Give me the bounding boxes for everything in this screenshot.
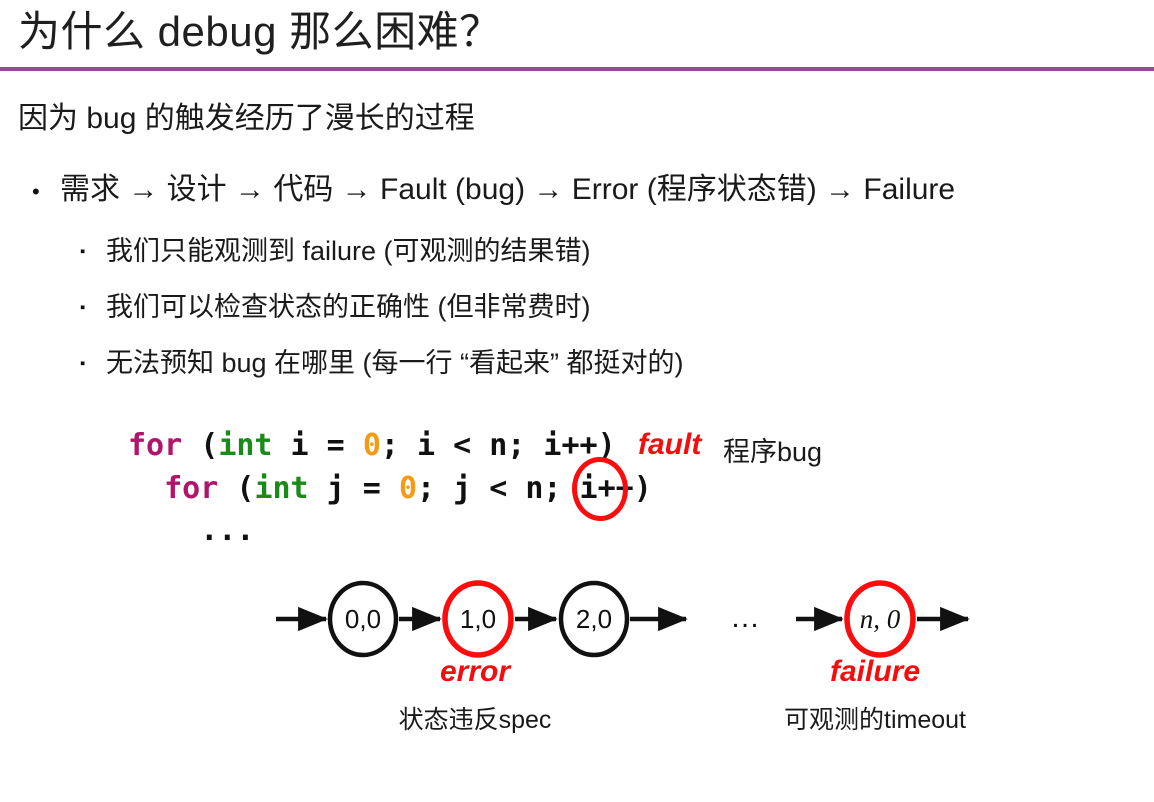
page-title: 为什么 debug 那么困难？ (18, 6, 502, 57)
code-type-int: int (218, 428, 272, 463)
code-punct: ( (218, 471, 254, 506)
code-line-1: for (int i = 0; i < n; i++) (128, 428, 616, 463)
code-text: j = (309, 471, 399, 506)
fault-annotation: fault (638, 428, 701, 462)
bullet-item-label: 需求 → 设计 → 代码 → Fault (bug) → Error (程序状态… (60, 172, 955, 208)
state-node-1-0-label: 1,0 (460, 604, 496, 634)
code-keyword-for: for (128, 428, 182, 463)
bullet-square-icon: ▪ (80, 243, 106, 261)
fault-annotation-note: 程序bug (723, 430, 822, 469)
code-type-int: int (254, 471, 308, 506)
failure-annotation: failure (790, 655, 960, 689)
code-text: i = (273, 428, 363, 463)
bullet-item-label: 我们可以检查状态的正确性 (但非常费时) (106, 291, 590, 323)
error-annotation-sub: 状态违反spec (370, 700, 580, 736)
lead-paragraph: 因为 bug 的触发经历了漫长的过程 (18, 100, 475, 138)
code-number-zero: 0 (363, 428, 381, 463)
code-keyword-for: for (164, 471, 218, 506)
code-punct: ( (182, 428, 218, 463)
bullet-dot-icon: • (32, 179, 60, 205)
state-node-0-0-label: 0,0 (345, 604, 381, 634)
bullet-item-observe-failure: ▪ 我们只能观测到 failure (可观测的结果错) (80, 235, 591, 267)
code-line-3-ellipsis: ... (128, 513, 254, 548)
bullet-square-icon: ▪ (80, 299, 106, 317)
bullet-item-unpredictable-bug: ▪ 无法预知 bug 在哪里 (每一行 “看起来” 都挺对的) (80, 347, 684, 379)
bullet-item-label: 我们只能观测到 failure (可观测的结果错) (106, 235, 591, 267)
code-indent (128, 471, 164, 506)
state-node-n-0-label: n, 0 (860, 604, 901, 634)
bullet-item-check-state: ▪ 我们可以检查状态的正确性 (但非常费时) (80, 291, 590, 323)
code-text: ; i < n; i++) (381, 428, 616, 463)
bullet-item-pipeline: • 需求 → 设计 → 代码 → Fault (bug) → Error (程序… (32, 172, 955, 208)
failure-annotation-sub: 可观测的timeout (755, 700, 995, 736)
error-annotation: error (400, 655, 550, 689)
state-node-2-0-label: 2,0 (576, 604, 612, 634)
code-number-zero: 0 (399, 471, 417, 506)
bullet-square-icon: ▪ (80, 355, 106, 373)
diagram-ellipsis: … (730, 601, 762, 634)
title-divider (0, 67, 1154, 71)
bullet-item-label: 无法预知 bug 在哪里 (每一行 “看起来” 都挺对的) (106, 347, 684, 379)
